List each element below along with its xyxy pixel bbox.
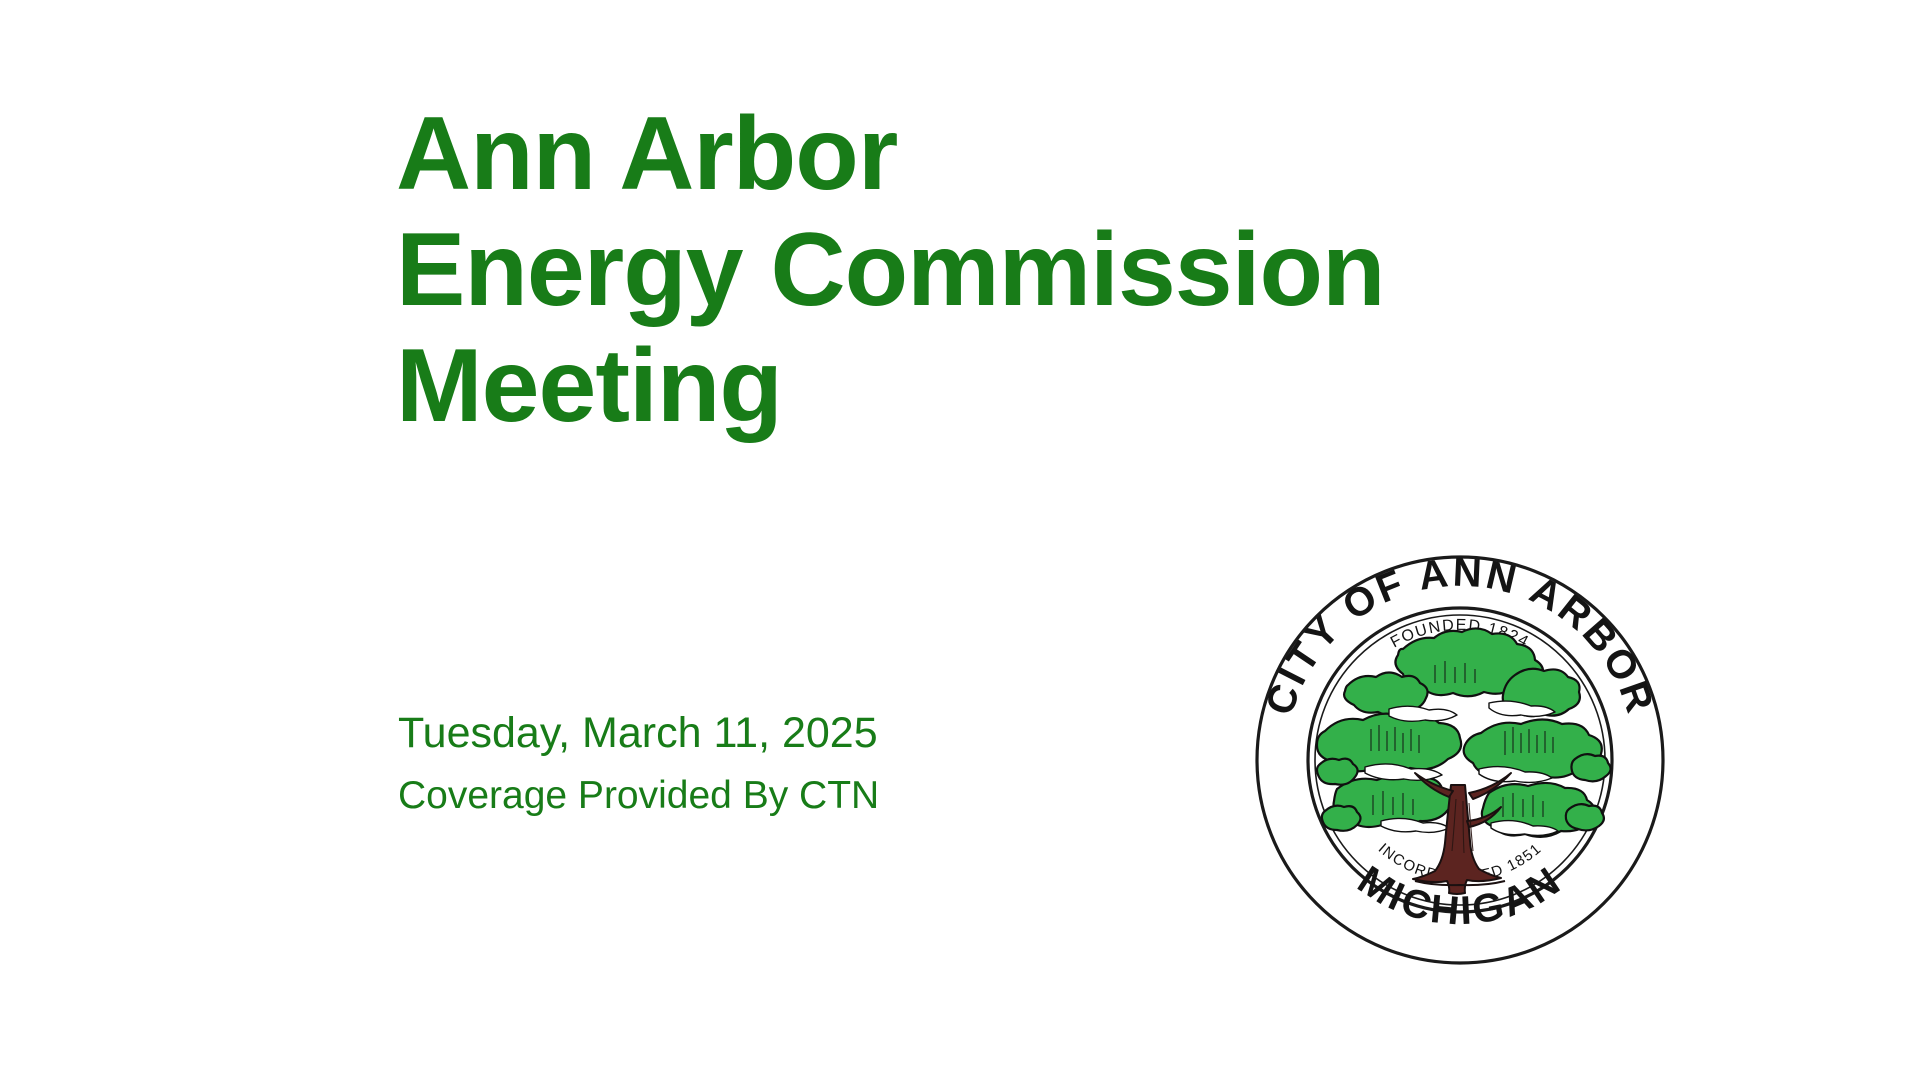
city-of-ann-arbor-seal-icon: CITY OF ANN ARBOR MICHIGAN FOUNDED 1824 … (1253, 553, 1667, 967)
slide-canvas: Ann Arbor Energy Commission Meeting Tues… (0, 0, 1920, 1080)
coverage-credit: Coverage Provided By CTN (398, 760, 1158, 822)
title-line-2: Energy Commission (396, 212, 1516, 328)
title-line-1: Ann Arbor (396, 96, 1516, 212)
meeting-date: Tuesday, March 11, 2025 (398, 706, 1158, 760)
subtitle-block: Tuesday, March 11, 2025 Coverage Provide… (398, 706, 1158, 822)
title-line-3: Meeting (396, 328, 1516, 444)
page-title: Ann Arbor Energy Commission Meeting (396, 96, 1516, 444)
